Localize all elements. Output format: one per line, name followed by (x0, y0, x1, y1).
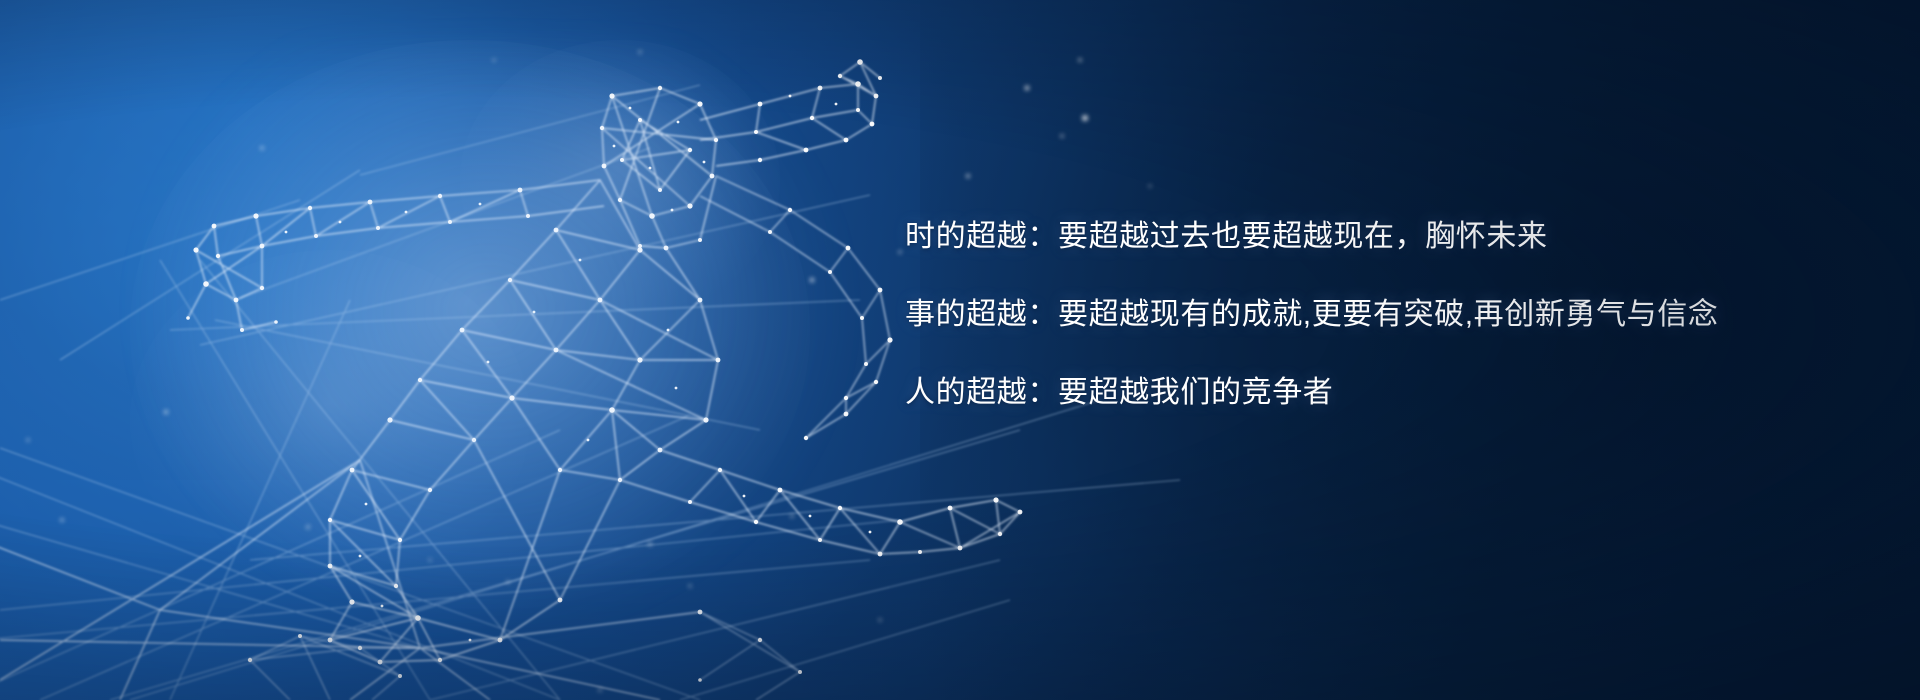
hero-banner: 时的超越：要超越过去也要超越现在，胸怀未来 事的超越：要超越现有的成就,更要有突… (0, 0, 1920, 700)
background-vignette (0, 0, 1920, 700)
